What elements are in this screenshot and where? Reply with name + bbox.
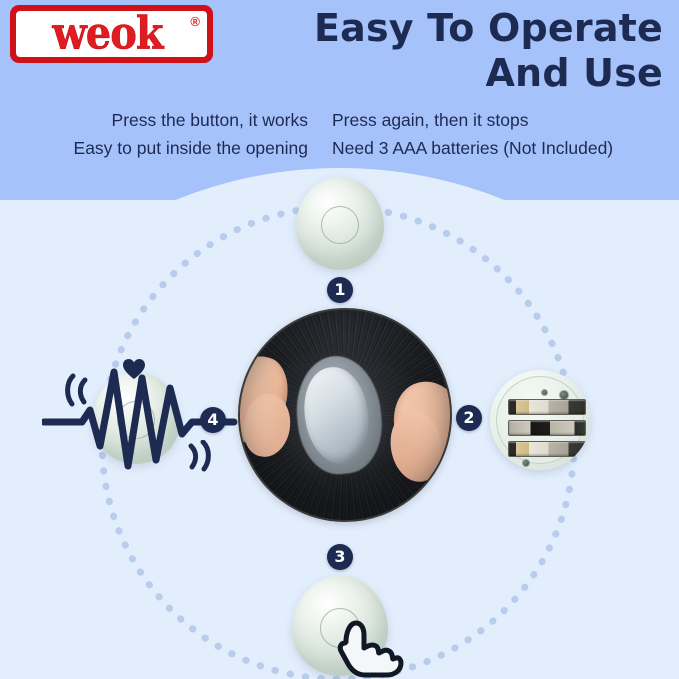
device-button-outline [321, 206, 359, 244]
page-title-line-1: Easy To Operate [273, 6, 663, 51]
pointing-hand-icon [332, 612, 404, 678]
registered-trademark-icon: ® [190, 14, 200, 29]
screw-icon [522, 459, 530, 467]
battery-compartment-housing [496, 376, 584, 464]
page-title: Easy To Operate And Use [273, 6, 663, 96]
feature-bullets-right-column: Press again, then it stops Need 3 AAA ba… [320, 107, 679, 162]
feature-bullets-left-column: Press the button, it works Easy to put i… [0, 107, 320, 162]
sound-wave-right-icon [186, 440, 216, 472]
bullet-left-1: Press the button, it works [0, 107, 308, 135]
brand-logo: weok ® [10, 5, 213, 63]
photo-vignette [240, 310, 450, 520]
brand-logo-plate: weok ® [14, 9, 209, 59]
feature-bullets: Press the button, it works Easy to put i… [0, 107, 679, 162]
bullet-left-2: Easy to put inside the opening [0, 135, 308, 163]
sound-wave-left-icon [60, 372, 94, 408]
hands-inserting-device-photo [238, 308, 452, 522]
aaa-battery [508, 441, 586, 457]
infographic-root: weok ® Easy To Operate And Use Press the… [0, 0, 679, 679]
step-badge-1: 1 [327, 277, 353, 303]
battery-compartment-icon [490, 370, 590, 470]
page-title-line-2: And Use [273, 51, 663, 96]
step-badge-4: 4 [200, 407, 226, 433]
aaa-battery [508, 420, 586, 436]
aaa-battery [508, 399, 586, 415]
step-badge-2: 2 [456, 405, 482, 431]
brand-logo-text: weok [52, 12, 170, 57]
screw-icon [541, 389, 548, 396]
battery-slots [508, 399, 586, 457]
egg-device-icon [296, 177, 384, 270]
heart-icon [122, 358, 146, 380]
bullet-right-2: Need 3 AAA batteries (Not Included) [332, 135, 679, 163]
step-badge-3: 3 [327, 544, 353, 570]
bullet-right-1: Press again, then it stops [332, 107, 679, 135]
